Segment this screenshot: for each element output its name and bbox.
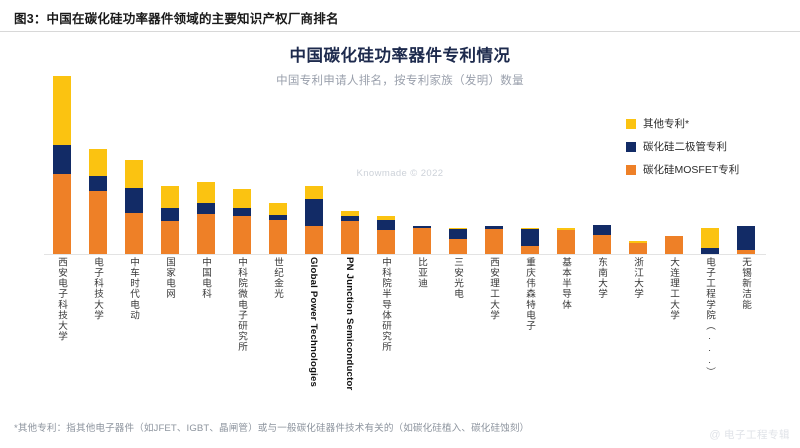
x-axis-label: 三安光电	[452, 257, 462, 299]
bar-segment	[197, 182, 215, 202]
bar-segment	[593, 225, 611, 235]
bar-group[interactable]	[413, 226, 431, 254]
bar-segment	[413, 228, 431, 254]
chart-panel: 中国碳化硅功率器件专利情况 中国专利申请人排名，按专利家族（发明）数量 Know…	[0, 32, 800, 414]
bar-segment	[161, 208, 179, 222]
bar-group[interactable]	[305, 186, 323, 254]
bar-group[interactable]	[233, 189, 251, 254]
bar-segment	[53, 76, 71, 145]
x-axis-labels: 西安电子科技大学电子科技大学中车时代电动国家电网中国电科中科院微电子研究所世纪金…	[44, 257, 764, 407]
bar-group[interactable]	[269, 203, 287, 254]
x-axis-label: 比亚迪	[416, 257, 426, 289]
bar-group[interactable]	[161, 186, 179, 254]
bar-segment	[269, 203, 287, 216]
bar-segment	[89, 191, 107, 254]
x-axis-baseline	[44, 254, 766, 255]
x-axis-label: 基本半导体	[560, 257, 570, 310]
bar-segment	[125, 188, 143, 213]
x-axis-label: 浙江大学	[632, 257, 642, 299]
at-icon: @	[709, 429, 721, 441]
bar-segment	[521, 229, 539, 247]
bar-segment	[341, 221, 359, 254]
x-axis-label: 国家电网	[164, 257, 174, 299]
bar-segment	[593, 235, 611, 254]
bar-group[interactable]	[125, 160, 143, 254]
bar-group[interactable]	[341, 211, 359, 254]
bar-group[interactable]	[665, 236, 683, 254]
x-axis-label: 中科院半导体研究所	[380, 257, 390, 352]
bar-group[interactable]	[557, 228, 575, 254]
bar-segment	[161, 221, 179, 254]
bar-segment	[197, 214, 215, 254]
bar-segment	[737, 226, 755, 250]
bar-segment	[305, 199, 323, 227]
bar-group[interactable]	[593, 225, 611, 254]
bar-segment	[233, 216, 251, 254]
bar-group[interactable]	[521, 228, 539, 254]
bar-group[interactable]	[485, 226, 503, 254]
x-axis-label: Global Power Technologies	[308, 257, 318, 387]
bar-segment	[665, 236, 683, 254]
bar-segment	[521, 246, 539, 254]
plot-area	[44, 72, 764, 254]
bar-group[interactable]	[89, 149, 107, 254]
bar-segment	[125, 160, 143, 188]
bar-segment	[161, 186, 179, 207]
x-axis-label: 电子工程学院（...）	[704, 257, 714, 378]
bar-group[interactable]	[449, 228, 467, 254]
x-axis-label: 西安理工大学	[488, 257, 498, 321]
bar-group[interactable]	[737, 226, 755, 254]
bar-segment	[701, 228, 719, 248]
bar-group[interactable]	[701, 228, 719, 254]
bar-segment	[197, 203, 215, 214]
corner-watermark-label: 电子工程专辑	[724, 427, 790, 442]
bar-segment	[53, 174, 71, 254]
chart-title: 中国碳化硅功率器件专利情况	[0, 42, 800, 66]
x-axis-label: 世纪金光	[272, 257, 282, 299]
x-axis-label: 大连理工大学	[668, 257, 678, 321]
x-axis-label: 中车时代电动	[128, 257, 138, 321]
x-axis-label: PN Junction Semiconductor	[344, 257, 354, 390]
bar-segment	[557, 230, 575, 254]
bar-group[interactable]	[197, 182, 215, 254]
bar-group[interactable]	[629, 241, 647, 254]
bar-segment	[53, 145, 71, 174]
corner-watermark: @ 电子工程专辑	[709, 427, 790, 442]
bar-segment	[629, 243, 647, 254]
x-axis-label: 中国电科	[200, 257, 210, 299]
bar-segment	[125, 213, 143, 254]
bar-group[interactable]	[53, 76, 71, 254]
bar-segment	[305, 186, 323, 199]
x-axis-label: 重庆伟森特电子	[524, 257, 534, 331]
x-axis-label: 中科院微电子研究所	[236, 257, 246, 352]
bar-segment	[89, 176, 107, 191]
bar-segment	[377, 220, 395, 230]
x-axis-label: 电子科技大学	[92, 257, 102, 321]
bar-segment	[305, 226, 323, 254]
bar-segment	[377, 230, 395, 254]
figure-caption: 图3：中国在碳化硅功率器件领域的主要知识产权厂商排名	[14, 8, 339, 27]
footnote: *其他专利：指其他电子器件（如JFET、IGBT、晶闸管）或与一般碳化硅器件技术…	[14, 420, 529, 434]
x-axis-label: 西安电子科技大学	[56, 257, 66, 342]
bar-segment	[449, 229, 467, 239]
x-axis-label: 无锡新洁能	[740, 257, 750, 310]
bar-segment	[233, 208, 251, 217]
bar-segment	[485, 229, 503, 254]
bar-segment	[233, 189, 251, 208]
bar-segment	[449, 239, 467, 254]
bar-segment	[89, 149, 107, 177]
x-axis-label: 东南大学	[596, 257, 606, 299]
bar-segment	[269, 220, 287, 254]
bar-group[interactable]	[377, 216, 395, 254]
